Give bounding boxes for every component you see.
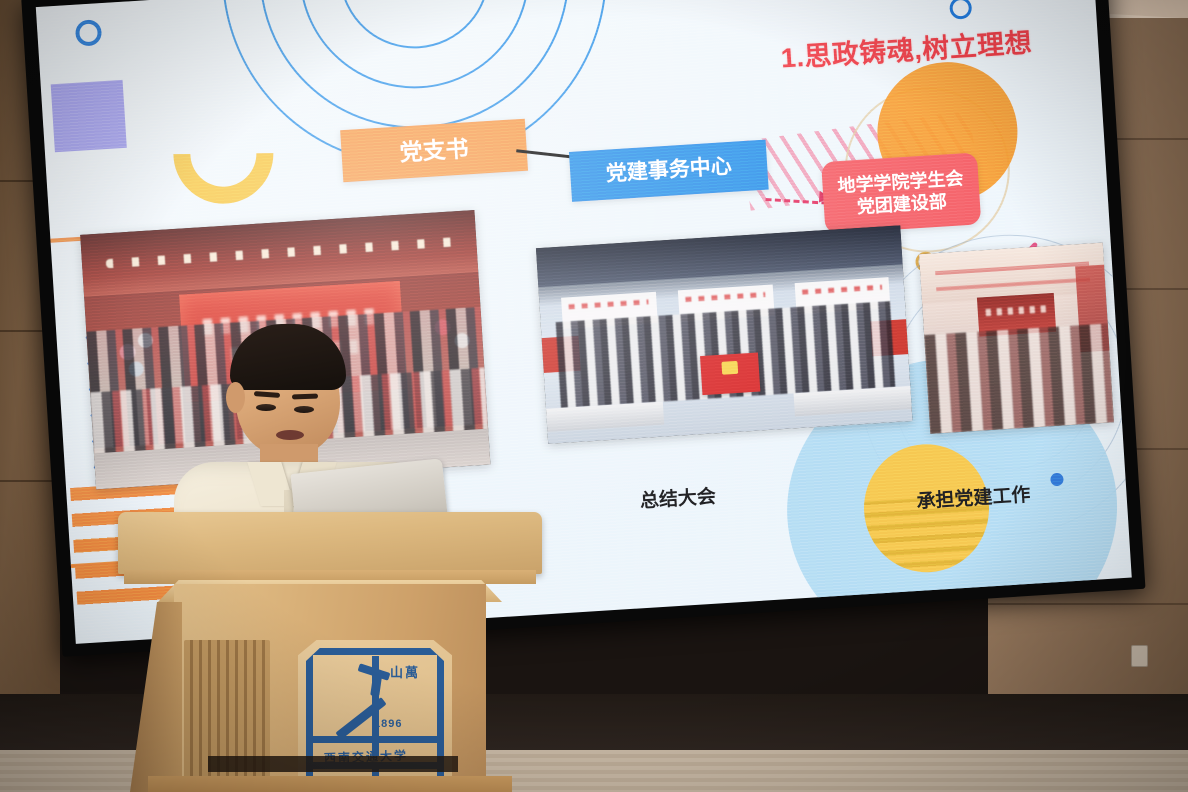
flow-node-student-union: 地学学院学生会 党团建设部 (821, 152, 981, 234)
photo-caption-2: 总结大会 (639, 481, 717, 513)
emblem-top-characters: 山萬 (390, 662, 420, 681)
slide-photo-summary-meeting (536, 225, 913, 444)
wall-outlet-icon (1131, 645, 1148, 667)
slide-photo-party-work (919, 243, 1114, 434)
purple-square-decor (51, 80, 127, 152)
flow-node-line2: 党团建设部 (856, 190, 947, 218)
flow-node-party-secretary: 党支书 (340, 119, 528, 183)
blue-ring-decor (949, 0, 972, 20)
presentation-room-scene: 1.思政铸魂,树立理想 党支书 党建事务中心 地学学院学生会 党团建设部 (0, 0, 1188, 792)
speaker-mouth (276, 430, 304, 440)
speaker-ear (226, 382, 245, 413)
flow-node-party-affairs-center: 党建事务中心 (569, 140, 769, 202)
emblem-year: 1896 (374, 718, 402, 730)
lectern: 山萬 1896 西南交通大学 工 (118, 512, 542, 792)
blue-ring-decor (75, 19, 103, 47)
speaker-hair (230, 324, 346, 390)
slide-title: 1.思政铸魂,树立理想 (780, 21, 1033, 76)
